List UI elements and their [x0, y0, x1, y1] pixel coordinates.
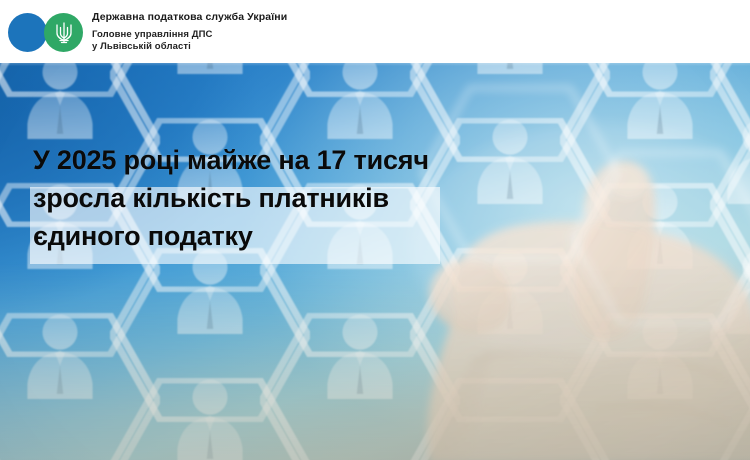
logo-green-circle-icon — [44, 13, 83, 52]
header-text-block: Державна податкова служба України Головн… — [92, 11, 287, 53]
logo-blue-circle-icon — [8, 13, 47, 52]
agency-subtitle-line-2: у Львівській області — [92, 41, 287, 53]
agency-title: Державна податкова служба України — [92, 11, 287, 24]
hero-banner-image — [0, 63, 750, 460]
hero-top-highlight — [0, 63, 750, 460]
page-root: Державна податкова служба України Головн… — [0, 0, 750, 460]
ukraine-trident-icon — [53, 20, 75, 45]
agency-logo[interactable] — [8, 9, 86, 55]
site-header: Державна податкова служба України Головн… — [0, 0, 750, 63]
agency-subtitle-line-1: Головне управління ДПС — [92, 29, 287, 41]
